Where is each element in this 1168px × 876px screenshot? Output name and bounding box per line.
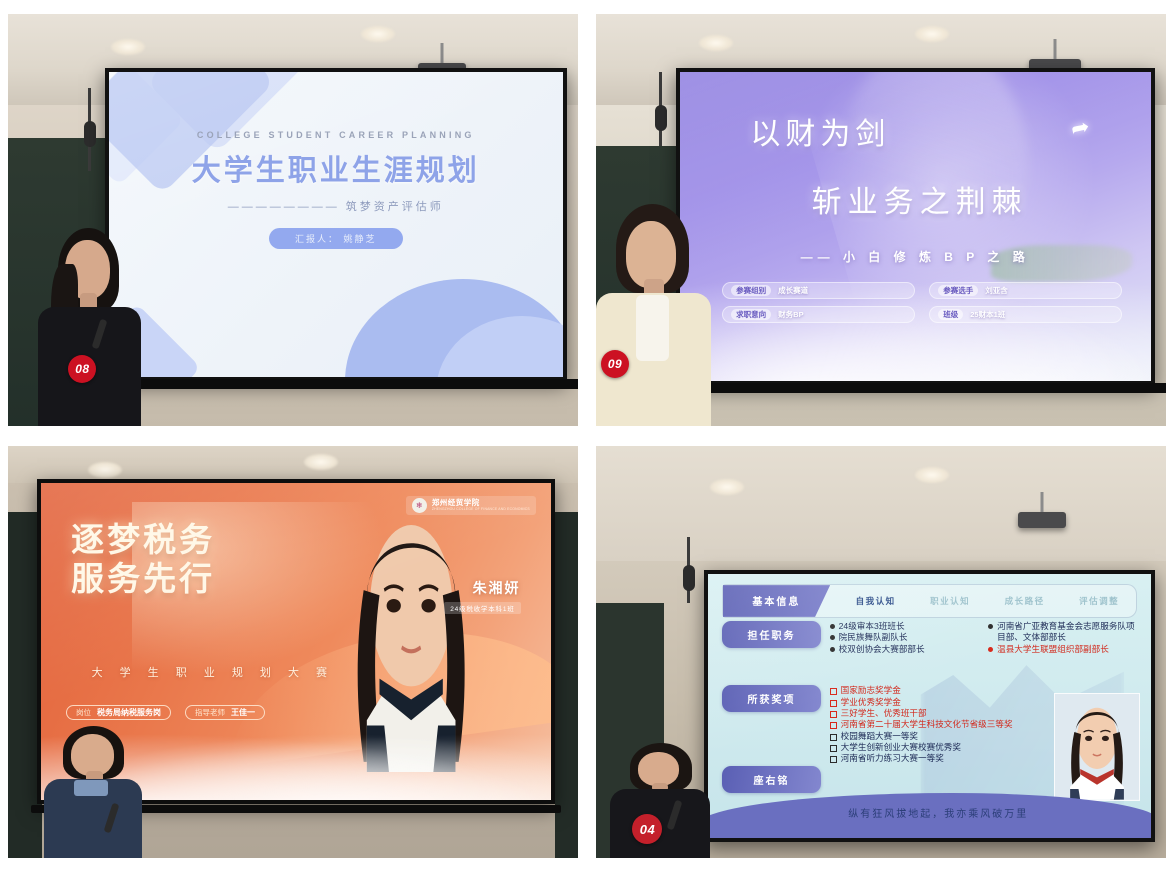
info-tag: 参赛组别 成长赛道 [722,282,915,299]
panel-bottom-left: ❄ 郑州经贸学院 ZHENGZHOU COLLEGE OF FINANCE AN… [8,446,578,858]
info-tag: 求职意向 财务BP [722,306,915,323]
projection-screen-frame: 基本信息 自我认知 职业认知 成长路径 评估调整 担任职务 [704,570,1154,842]
info-tag-value: 成长赛道 [778,285,808,296]
bullet-dot-icon [988,647,993,652]
slide-info-tags: 岗位 税务局纳税服务岗 指导老师 王佳一 [66,705,429,720]
head [71,734,114,776]
collar [74,780,108,796]
info-row-positions: 担任职务 24级审本3班班长 院民族舞队副队长 [722,621,1138,655]
info-tag: 岗位 税务局纳税服务岗 [66,705,171,720]
microphone-icon [655,105,667,131]
head [626,221,676,288]
bullet-square-icon [830,688,837,695]
list-item: 院民族舞队副队长 [830,632,979,643]
info-tag: 班级 25财本1班 [929,306,1122,323]
info-tag-key: 参赛组别 [731,285,771,296]
projection-screen: ➦ 以财为剑 斩业务之荆棘 —— 小 白 修 炼 B P 之 路 参赛组别 成长… [680,72,1151,381]
row-label: 座右铭 [722,766,822,793]
info-tag-key: 求职意向 [731,309,771,320]
row-column-right: 河南省广亚教育基金会志愿服务队项目部、文体部部长 温县大学生联盟组织部副部长 [988,621,1137,655]
slide-section-header: 基本信息 自我认知 职业认知 成长路径 评估调整 [722,584,1138,618]
panel-top-right: ➦ 以财为剑 斩业务之荆棘 —— 小 白 修 炼 B P 之 路 参赛组别 成长… [596,14,1166,426]
projection-screen: COLLEGE STUDENT CAREER PLANNING 大学生职业生涯规… [109,72,563,377]
bullet-square-icon [830,734,837,741]
list-item-text: 国家励志奖学金 [841,685,901,696]
slide-title-line1: 以财为剑 [750,109,890,153]
section-tabs: 自我认知 职业认知 成长路径 评估调整 [830,585,1136,617]
inner-top [636,295,669,362]
list-item-text: 三好学生、优秀班干部 [841,708,927,719]
tab-self-awareness[interactable]: 自我认知 [856,595,896,607]
presenter [42,726,156,858]
slide-title: 大学生职业生涯规划 [109,147,563,189]
school-logo: ❄ 郑州经贸学院 ZHENGZHOU COLLEGE OF FINANCE AN… [406,496,536,515]
info-tag-value: 刘亚含 [985,285,1008,296]
bullet-dot-icon [830,647,835,652]
list-item-text: 河南省听力练习大赛一等奖 [841,753,944,764]
list-item-text: 校园舞蹈大赛一等奖 [841,731,918,742]
presenter-name-block: 朱湘妍 24级税收学本科1班 [444,578,520,616]
bullet-square-icon [830,722,837,729]
slide-subtitle: —— 小 白 修 炼 B P 之 路 [680,248,1151,265]
bullet-square-icon [830,756,837,763]
section-current-label: 基本信息 [723,585,831,617]
motto-text: 纵有狂风拔地起，我亦乘风破万里 [770,805,1106,820]
student-id-photo [1054,693,1140,801]
tab-evaluation-adjust[interactable]: 评估调整 [1079,595,1119,607]
ceiling-light-icon [699,35,733,51]
list-item-text: 24级审本3班班长 [839,621,905,632]
school-name-en: ZHENGZHOU COLLEGE OF FINANCE AND ECONOMI… [432,508,530,511]
info-tag: 参赛选手 刘亚含 [929,282,1122,299]
bullet-square-icon [830,700,837,707]
ceiling-light-icon [710,479,744,495]
bullet-square-icon [830,745,837,752]
presenter: 08 [31,228,156,426]
school-crest-icon: ❄ [412,498,427,513]
list-item: 24级审本3班班长 [830,621,979,632]
slide-subtitle: 大 学 生 职 业 规 划 大 赛 [92,664,334,680]
list-item: 温县大学生联盟组织部副部长 [988,644,1137,655]
list-item-text: 大学生创新创业大赛校赛优秀奖 [841,742,961,753]
projection-screen: 基本信息 自我认知 职业认知 成长路径 评估调整 担任职务 [708,574,1150,838]
slide-subtitle: ———————— 筑梦资产评估师 [109,198,563,214]
presenter-class: 24级税收学本科1班 [444,602,520,614]
slide-career-planning: COLLEGE STUDENT CAREER PLANNING 大学生职业生涯规… [109,72,563,377]
slide-title-line2: 服务先行 [71,560,215,599]
slide-basic-info: 基本信息 自我认知 职业认知 成长路径 评估调整 担任职务 [708,574,1150,838]
list-item-text: 校双创协会大赛部部长 [839,644,925,655]
row-label: 所获奖项 [722,685,822,712]
school-name-cn: 郑州经贸学院 [432,499,530,507]
slide-eyebrow: COLLEGE STUDENT CAREER PLANNING [109,130,563,140]
microphone-icon [84,121,96,147]
info-tag-value: 财务BP [778,309,803,320]
bullet-square-icon [830,711,837,718]
bullet-dot-icon [988,624,993,629]
screen-bottom-bar [676,383,1166,393]
projection-screen-frame: ➦ 以财为剑 斩业务之荆棘 —— 小 白 修 炼 B P 之 路 参赛组别 成长… [676,68,1155,385]
info-tag-key: 班级 [938,309,963,320]
screen-bottom-bar [105,379,578,389]
info-tag-value: 税务局纳税服务岗 [97,707,161,718]
list-item: 河南省广亚教育基金会志愿服务队项目部、文体部部长 [988,621,1137,644]
bullet-dot-icon [830,635,835,640]
slide-title: 逐梦税务 服务先行 [71,521,215,599]
list-item: 校双创协会大赛部部长 [830,644,979,655]
slide-text-block: COLLEGE STUDENT CAREER PLANNING 大学生职业生涯规… [109,130,563,249]
ceiling-light-icon [111,39,145,55]
projector-icon [1018,512,1066,528]
presenter: 09 [596,204,721,426]
badge-number: 04 [640,822,655,837]
info-tag-value: 王佳一 [231,707,255,718]
row-label: 担任职务 [722,621,822,648]
list-item-text: 学业优秀奖学金 [841,697,901,708]
row-column-left: 24级审本3班班长 院民族舞队副队长 校双创协会大赛部部长 [830,621,979,655]
info-tag-value: 25财本1班 [970,309,1005,320]
slide-title-line2: 斩业务之荆棘 [812,177,1028,221]
presenter-chip: 汇报人： 姚静芝 [269,228,403,249]
head [638,752,679,787]
info-tag-key: 参赛选手 [938,285,978,296]
slide-info-tags: 参赛组别 成长赛道 参赛选手 刘亚含 求职意向 财务BP 班级 [722,282,1122,323]
tab-career-awareness[interactable]: 职业认知 [930,595,970,607]
ceiling-light-icon [915,467,949,483]
info-tag-key: 岗位 [76,707,91,718]
info-tag-key: 指导老师 [195,707,225,718]
microphone-icon [683,565,695,591]
badge-number: 08 [75,362,89,376]
list-item-text: 河南省第二十届大学生科技文化节省级三等奖 [841,719,1013,730]
ceiling [596,446,1166,561]
list-item-text: 河南省广亚教育基金会志愿服务队项目部、文体部部长 [997,621,1137,644]
projection-screen-frame: COLLEGE STUDENT CAREER PLANNING 大学生职业生涯规… [105,68,567,381]
tab-growth-path[interactable]: 成长路径 [1005,595,1045,607]
slide-title-line1: 逐梦税务 [71,521,215,560]
panel-bottom-right: 基本信息 自我认知 职业认知 成长路径 评估调整 担任职务 [596,446,1166,858]
panel-top-left: COLLEGE STUDENT CAREER PLANNING 大学生职业生涯规… [8,14,578,426]
list-item-text: 温县大学生联盟组织部副部长 [997,644,1109,655]
list-item-text: 院民族舞队副队长 [839,632,908,643]
slide-bp-journey: ➦ 以财为剑 斩业务之荆棘 —— 小 白 修 炼 B P 之 路 参赛组别 成长… [680,72,1151,381]
bullet-dot-icon [830,624,835,629]
badge-number: 09 [608,357,622,371]
photo-collage-grid: COLLEGE STUDENT CAREER PLANNING 大学生职业生涯规… [0,0,1168,876]
presenter: 04 [607,743,721,858]
presenter-name: 朱湘妍 [444,578,520,598]
info-tag: 指导老师 王佳一 [185,705,265,720]
